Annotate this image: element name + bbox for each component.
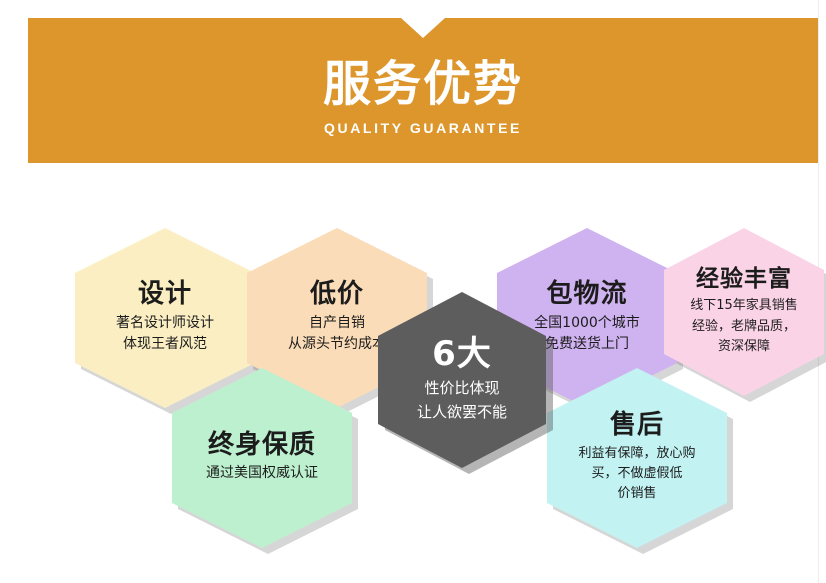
- hexagon-design-line-1: 著名设计师设计: [116, 313, 214, 335]
- hexagon-aftersales-title: 售后: [610, 411, 664, 440]
- banner-content: 服务优势 QUALITY GUARANTEE: [28, 18, 818, 163]
- page-subtitle: QUALITY GUARANTEE: [324, 120, 522, 136]
- hexagon-warranty-title: 终身保质: [208, 431, 316, 460]
- header-banner: 服务优势 QUALITY GUARANTEE: [28, 18, 818, 163]
- page-title: 服务优势: [323, 59, 523, 109]
- hexagon-experience-line-2: 经验，老牌品质，: [690, 317, 798, 337]
- hexagon-aftersales-line-1: 利益有保障，放心购: [578, 444, 695, 464]
- hexagon-center-line-1: 性价比体现: [417, 377, 507, 400]
- hexagon-aftersales-body: 利益有保障，放心购 买，不做虚假低 价销售: [578, 444, 695, 504]
- hexagon-experience-line-3: 资深保障: [690, 337, 798, 357]
- hexagon-logistics-line-1: 全国1000个城市: [534, 313, 640, 335]
- hexagon-aftersales-line-3: 价销售: [578, 484, 695, 504]
- hexagon-design-title: 设计: [138, 280, 192, 309]
- hexagon-price-line-2: 从源头节约成本: [288, 334, 386, 356]
- hexagon-logistics-title: 包物流: [546, 280, 627, 309]
- hexagon-warranty-line-1: 通过美国权威认证: [206, 463, 318, 485]
- service-advantages-page: 服务优势 QUALITY GUARANTEE 设计 著名设计师设计 体现王者风范…: [0, 0, 826, 583]
- hexagon-price-title: 低价: [310, 280, 364, 309]
- hexagon-center-line-2: 让人欲罢不能: [417, 401, 507, 424]
- hexagon-center-title: 6大: [432, 336, 492, 373]
- hexagon-experience-title: 经验丰富: [696, 267, 792, 292]
- hexagon-design-line-2: 体现王者风范: [116, 334, 214, 356]
- hexagon-experience-body: 线下15年家具销售 经验，老牌品质， 资深保障: [690, 296, 798, 356]
- hexagon-price-line-1: 自产自销: [288, 313, 386, 335]
- hexagon-price-body: 自产自销 从源头节约成本: [288, 313, 386, 356]
- hexagon-design-body: 著名设计师设计 体现王者风范: [116, 313, 214, 356]
- hexagon-experience-line-1: 线下15年家具销售: [690, 296, 798, 316]
- hexagon-center-body: 性价比体现 让人欲罢不能: [417, 377, 507, 424]
- hexagon-warranty-body: 通过美国权威认证: [206, 463, 318, 485]
- hexagon-aftersales-line-2: 买，不做虚假低: [578, 464, 695, 484]
